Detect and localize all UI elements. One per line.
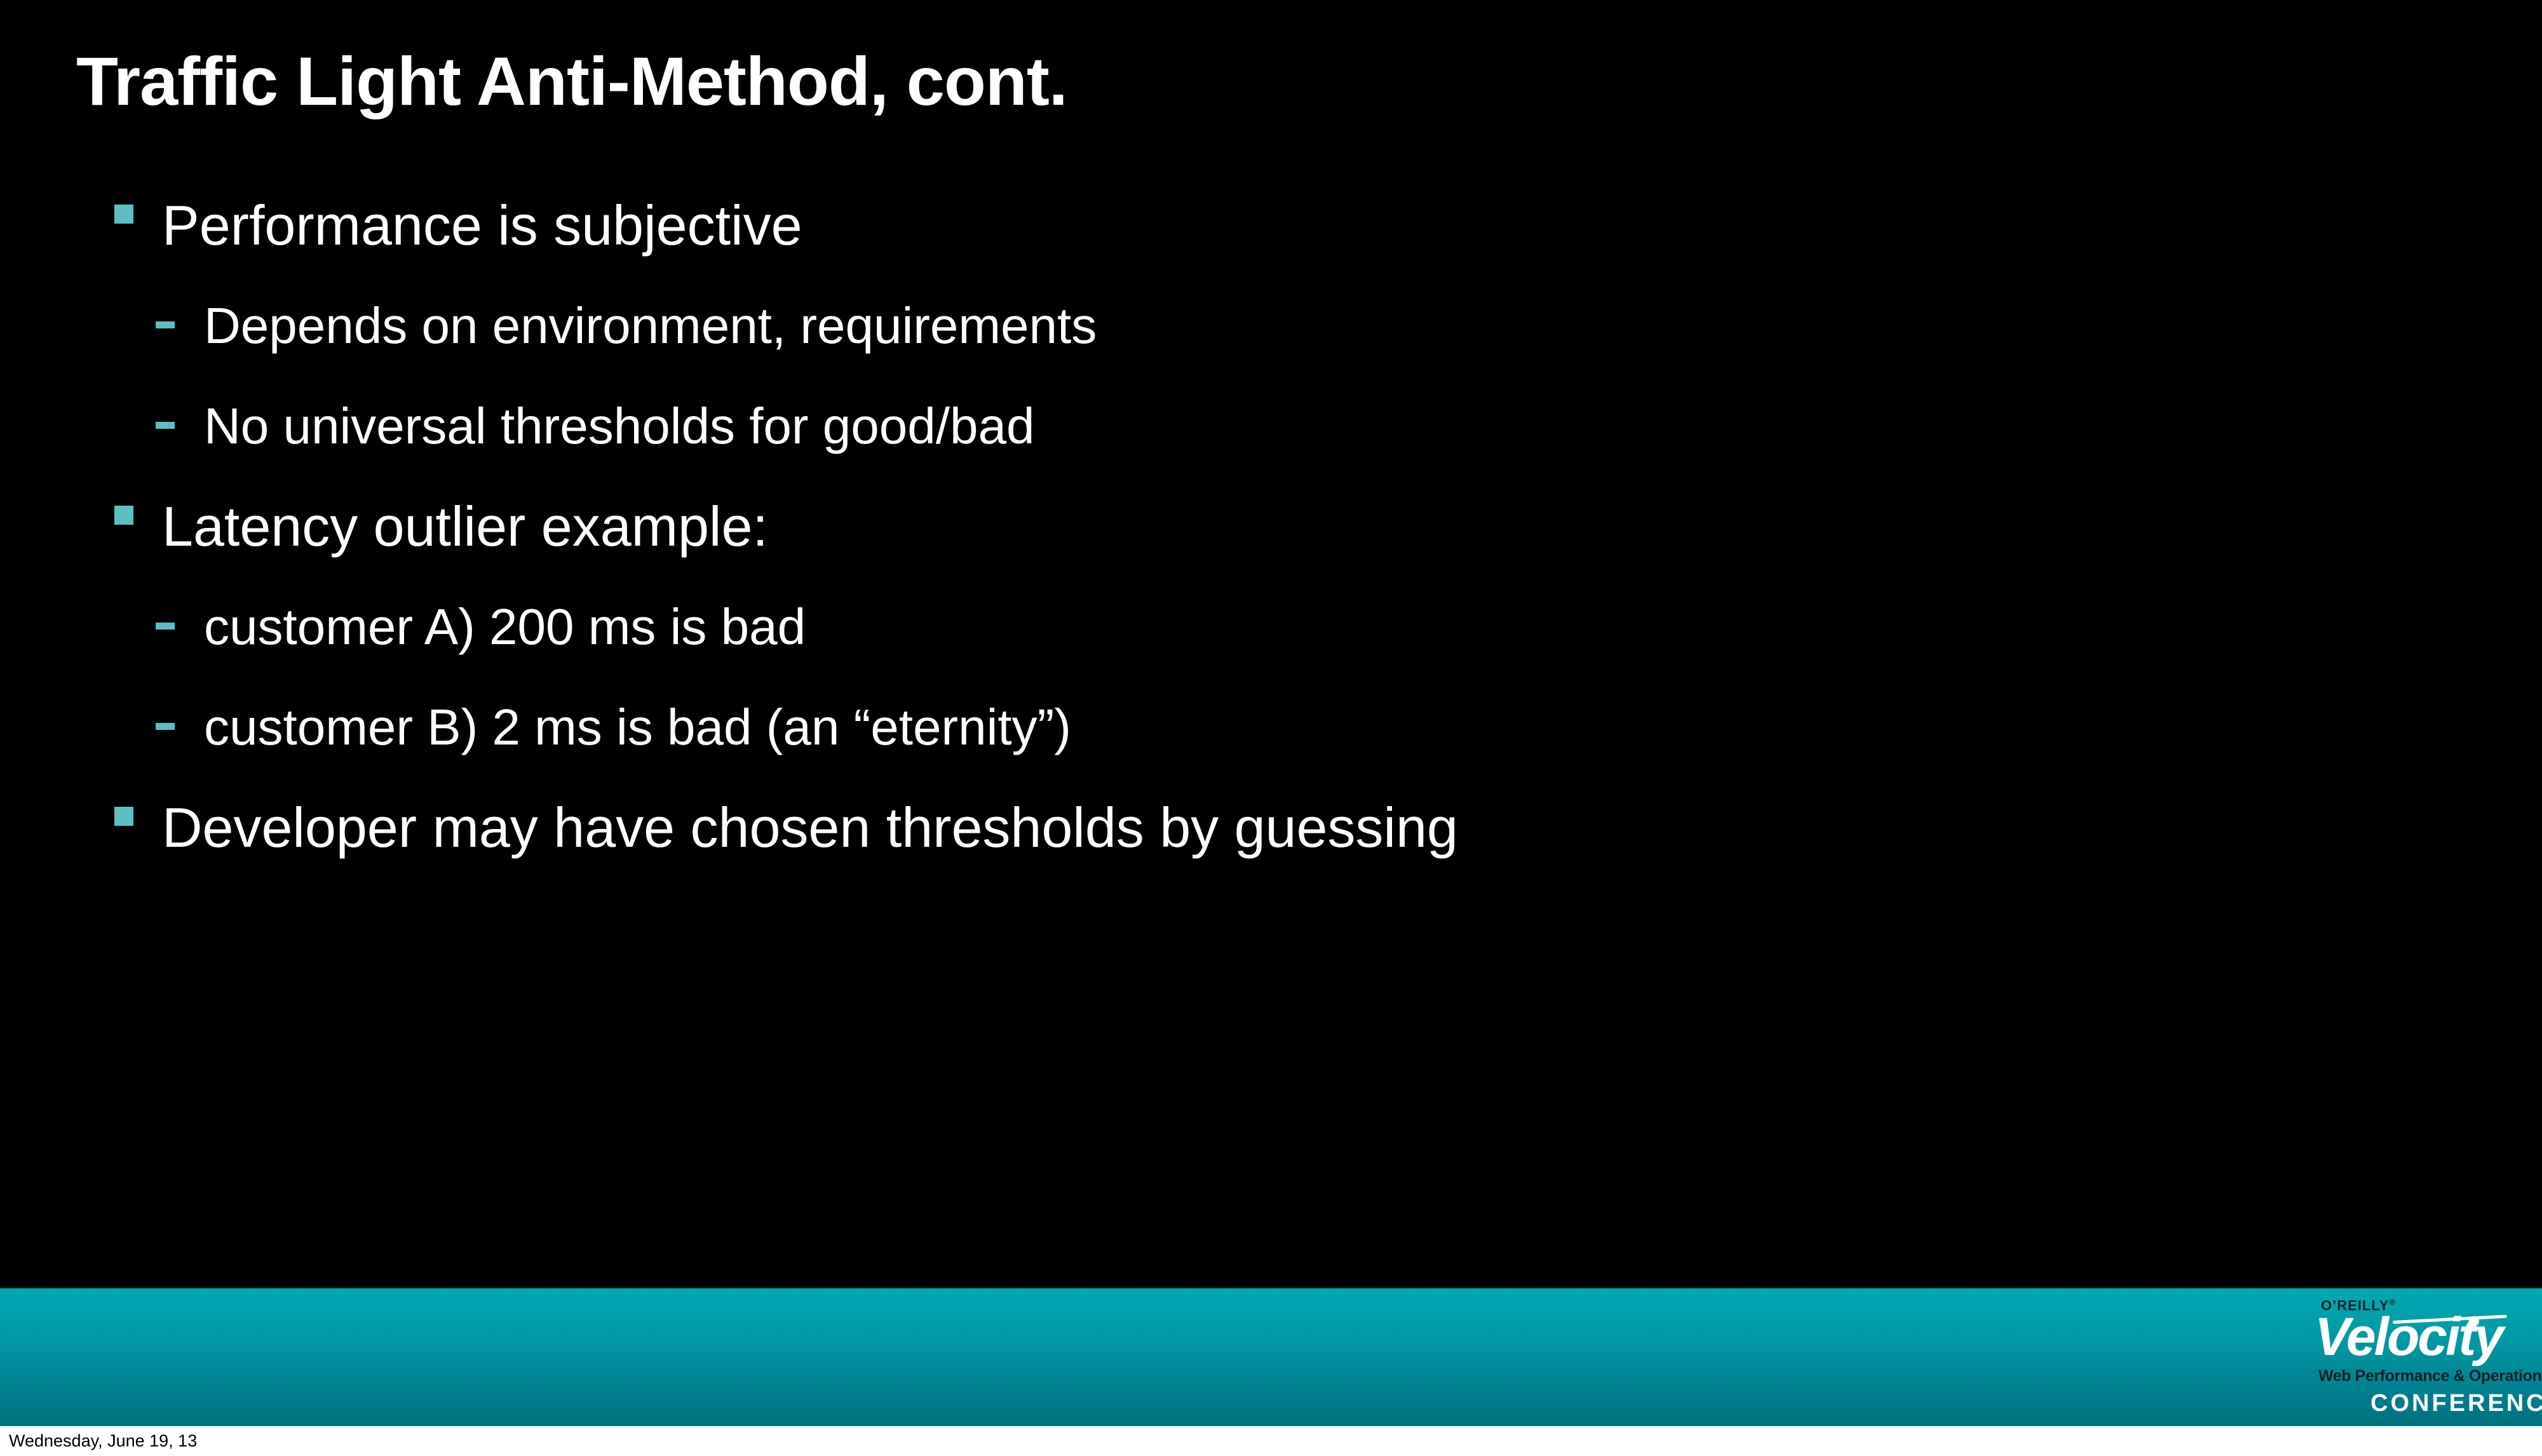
status-strip: Wednesday, June 19, 13 [0, 1426, 2542, 1456]
footer-band: O’REILLY® Velocity Web Performance & Ope… [0, 1288, 2542, 1426]
list-item: customer B) 2 ms is bad (an “eternity”) [0, 677, 2542, 778]
list-item: No universal thresholds for good/bad [0, 376, 2542, 476]
slide-root: Traffic Light Anti-Method, cont. Perform… [0, 0, 2542, 1456]
square-bullet-icon [114, 807, 133, 826]
square-bullet-icon [114, 506, 133, 525]
list-item: Developer may have chosen thresholds by … [0, 778, 2542, 878]
list-item-label: No universal thresholds for good/bad [204, 376, 1034, 476]
dash-bullet-icon [156, 723, 175, 730]
square-bullet-icon [114, 205, 133, 224]
list-item-label: Performance is subjective [162, 175, 802, 276]
list-item: customer A) 200 ms is bad [0, 577, 2542, 677]
page-title: Traffic Light Anti-Method, cont. [76, 43, 1067, 120]
conference-label: CONFERENCE [2370, 1390, 2542, 1417]
list-item-label: Depends on environment, requirements [204, 276, 1097, 376]
list-item: Latency outlier example: [0, 476, 2542, 577]
slide-canvas: Traffic Light Anti-Method, cont. Perform… [0, 0, 2542, 1426]
list-item: Performance is subjective [0, 175, 2542, 276]
dash-bullet-icon [156, 623, 175, 630]
velocity-logo: O’REILLY® Velocity Web Performance & Ope… [2282, 1297, 2536, 1418]
list-item-label: customer A) 200 ms is bad [204, 577, 806, 677]
velocity-tagline: Web Performance & Operations [2318, 1367, 2542, 1385]
list-item-label: Developer may have chosen thresholds by … [162, 778, 1458, 878]
dot-icon [2469, 1316, 2479, 1326]
list-item-label: customer B) 2 ms is bad (an “eternity”) [204, 677, 1071, 778]
list-item-label: Latency outlier example: [162, 476, 768, 577]
status-date: Wednesday, June 19, 13 [9, 1431, 197, 1451]
dash-bullet-icon [156, 321, 175, 328]
list-item: Depends on environment, requirements [0, 276, 2542, 376]
registered-mark-icon: ® [2389, 1297, 2396, 1307]
bullet-list: Performance is subjective Depends on env… [0, 175, 2542, 878]
dash-bullet-icon [156, 422, 175, 429]
